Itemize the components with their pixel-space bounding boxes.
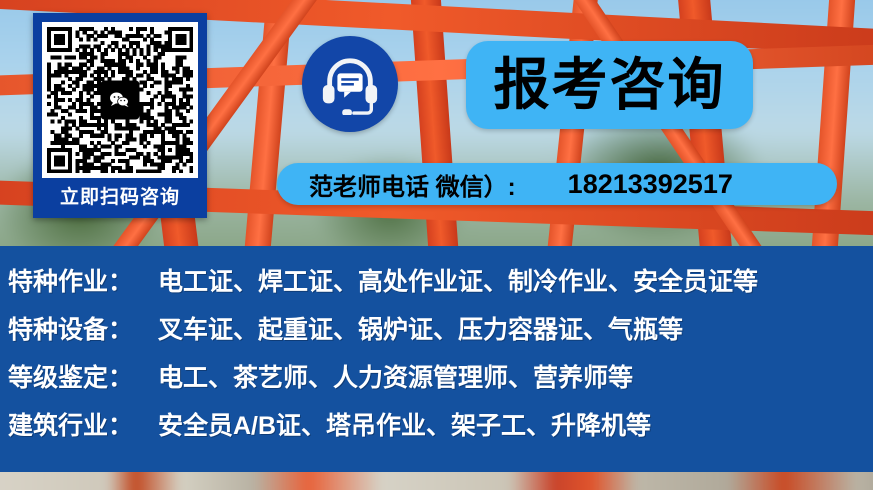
bottom-photo-background [0,472,873,490]
info-category: 建筑行业： [8,406,158,442]
title-banner: 报考咨询 [466,41,753,129]
qr-code-image-wrapper[interactable] [42,22,198,178]
info-row: 特种作业： 电工证、焊工证、高处作业证、制冷作业、安全员证等 [0,262,873,310]
page-title: 报考咨询 [494,55,726,115]
bottom-photo-strip [0,472,873,490]
info-items: 叉车证、起重证、锅炉证、压力容器证、气瓶等 [158,310,683,346]
qr-code-caption: 立即扫码咨询 [36,186,204,210]
info-items: 电工证、焊工证、高处作业证、制冷作业、安全员证等 [158,262,758,298]
info-row: 等级鉴定： 电工、茶艺师、人力资源管理师、营养师等 [0,358,873,406]
contact-banner[interactable]: 范老师电话 微信）: 18213392517 [277,163,837,205]
info-row: 建筑行业： 安全员A/B证、塔吊作业、架子工、升降机等 [0,406,873,454]
wechat-qr-code[interactable] [47,27,193,173]
headset-support-icon [319,53,381,115]
info-row: 特种设备： 叉车证、起重证、锅炉证、压力容器证、气瓶等 [0,310,873,358]
background-photo-region: 立即扫码咨询 报考咨询 [0,0,873,246]
contact-label: 范老师电话 微信）: [309,167,516,202]
info-items: 安全员A/B证、塔吊作业、架子工、升降机等 [158,406,651,442]
qr-code-card[interactable]: 立即扫码咨询 [33,13,207,218]
info-category: 等级鉴定： [8,358,158,394]
info-items: 电工、茶艺师、人力资源管理师、营养师等 [158,358,633,394]
promo-poster: 立即扫码咨询 报考咨询 [0,0,873,490]
info-category: 特种设备： [8,310,158,346]
info-category: 特种作业： [8,262,158,298]
certification-list-panel: 特种作业： 电工证、焊工证、高处作业证、制冷作业、安全员证等 特种设备： 叉车证… [0,246,873,472]
contact-phone-number[interactable]: 18213392517 [568,169,733,200]
headset-support-icon-circle[interactable] [302,36,398,132]
